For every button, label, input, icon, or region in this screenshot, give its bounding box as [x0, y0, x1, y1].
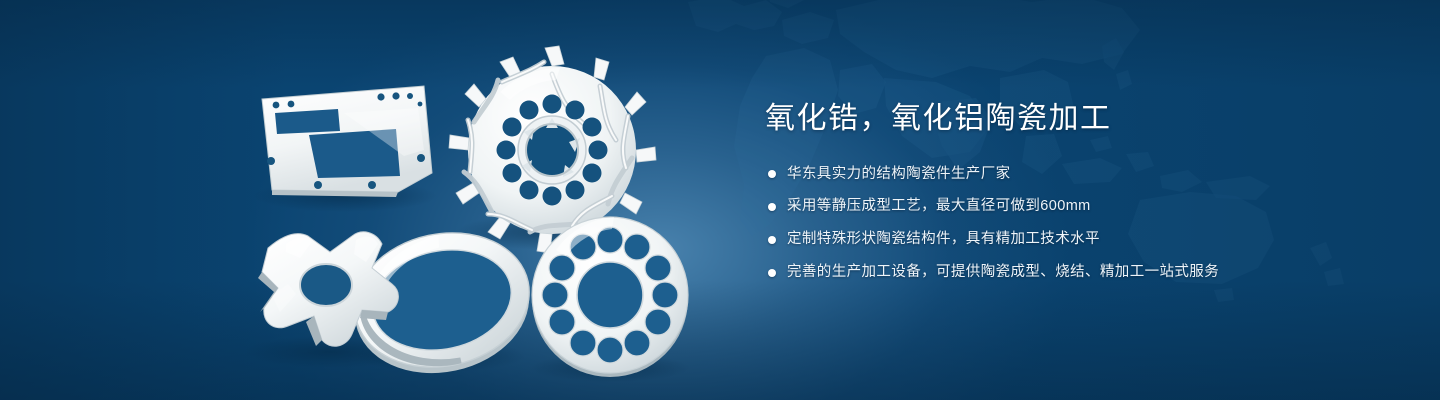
ceramic-plate-with-cutouts [262, 86, 432, 197]
bullet-dot-icon [768, 170, 776, 178]
bullet-dot-icon [768, 203, 776, 211]
feature-bullet-item: 采用等静压成型工艺，最大直径可做到600mm [765, 196, 1385, 218]
feature-bullet-item: 完善的生产加工设备，可提供陶瓷成型、烧结、精加工一站式服务 [765, 262, 1385, 284]
feature-bullet-list: 华东具实力的结构陶瓷件生产厂家 采用等静压成型工艺，最大直径可做到600mm 定… [765, 164, 1385, 284]
bullet-dot-icon [768, 269, 776, 277]
feature-bullet-text: 采用等静压成型工艺，最大直径可做到600mm [787, 196, 1091, 218]
feature-bullet-item: 华东具实力的结构陶瓷件生产厂家 [765, 164, 1385, 186]
feature-bullet-text: 完善的生产加工设备，可提供陶瓷成型、烧结、精加工一站式服务 [787, 262, 1219, 284]
feature-bullet-text: 定制特殊形状陶瓷结构件，具有精加工技术水平 [787, 229, 1100, 251]
ceramic-products-photo-group [0, 0, 760, 400]
marketing-copy-block: 氧化锆，氧化铝陶瓷加工 华东具实力的结构陶瓷件生产厂家 采用等静压成型工艺，最大… [765, 100, 1385, 295]
feature-bullet-text: 华东具实力的结构陶瓷件生产厂家 [787, 164, 1011, 186]
bullet-dot-icon [768, 236, 776, 244]
ceramic-perforated-disc [532, 217, 688, 377]
feature-bullet-item: 定制特殊形状陶瓷结构件，具有精加工技术水平 [765, 229, 1385, 251]
banner-headline: 氧化锆，氧化铝陶瓷加工 [765, 100, 1385, 138]
ceramic-processing-banner: 氧化锆，氧化铝陶瓷加工 华东具实力的结构陶瓷件生产厂家 采用等静压成型工艺，最大… [0, 0, 1440, 400]
